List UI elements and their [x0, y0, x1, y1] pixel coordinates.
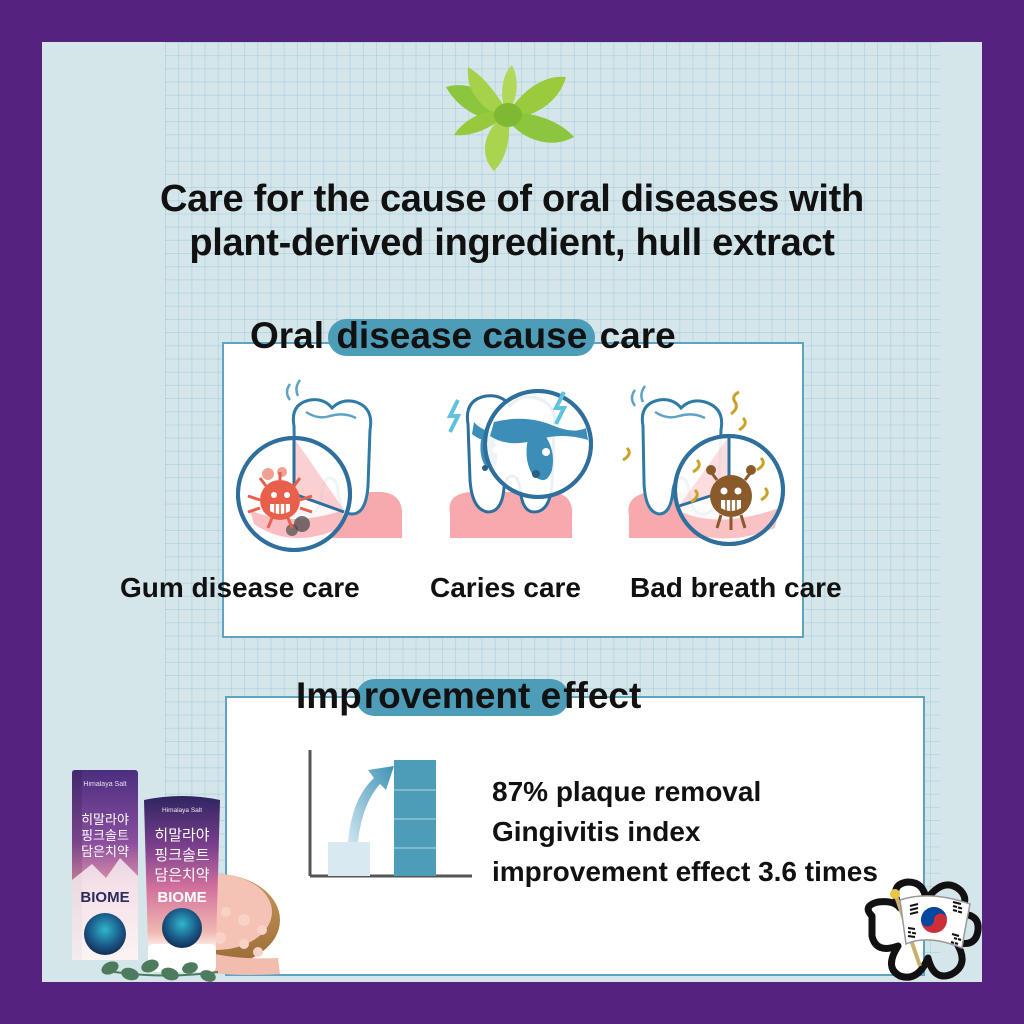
tooth-caries-icon	[422, 378, 612, 558]
section1-title-highlight: disease cause	[334, 315, 589, 357]
south-korea-taegukgi	[900, 896, 970, 948]
infographic-page: Care for the cause of oral diseases with…	[0, 0, 1024, 1024]
section-title-oral-disease: Oral disease cause care	[250, 315, 676, 357]
headline-line-1: Care for the cause of oral diseases with	[160, 178, 864, 220]
caption-bad-breath-care: Bad breath care	[630, 572, 842, 604]
chart-bar-after	[394, 760, 436, 876]
svg-text:담은치약: 담은치약	[81, 844, 129, 859]
svg-text:핑크솔트: 핑크솔트	[81, 828, 129, 843]
svg-text:담은치약: 담은치약	[154, 867, 209, 884]
svg-text:히말라야: 히말라야	[154, 827, 209, 844]
product-photo: Himalaya Salt 히말라야 핑크솔트 담은치약 BIOME Himal…	[48, 752, 288, 984]
section-title-improvement-effect: Improvement effect	[296, 675, 641, 717]
chart-bar-before	[328, 842, 370, 876]
tooth-gum-disease-icon	[232, 378, 422, 558]
caption-caries-care: Caries care	[430, 572, 581, 604]
oral-disease-icon-row	[232, 378, 797, 558]
svg-text:핑크솔트: 핑크솔트	[154, 847, 209, 864]
tooth-bad-breath-icon	[607, 378, 797, 558]
svg-text:BIOME: BIOME	[80, 889, 129, 906]
section1-title-pre: Oral	[250, 315, 334, 356]
benefit-line-1: 87% plaque removal	[492, 772, 1012, 812]
svg-text:BIOME: BIOME	[157, 889, 206, 906]
svg-text:Himalaya Salt: Himalaya Salt	[83, 781, 126, 788]
page-headline: Care for the cause of oral diseases with…	[62, 178, 962, 265]
section2-title-highlight: rovement e	[362, 675, 563, 717]
caption-gum-disease-care: Gum disease care	[120, 572, 360, 604]
section2-title-post: ffect	[563, 675, 641, 716]
growth-arrow-icon	[348, 766, 394, 842]
section1-title-post: care	[589, 315, 675, 356]
headline-line-2: plant-derived ingredient, hull extract	[62, 222, 962, 266]
mint-leaf-icon	[420, 55, 595, 175]
svg-text:히말라야: 히말라야	[81, 812, 129, 827]
svg-text:Himalaya Salt: Himalaya Salt	[162, 807, 202, 814]
section2-title-pre: Imp	[296, 675, 362, 716]
improvement-bar-chart	[300, 742, 480, 890]
benefit-line-2: Gingivitis index	[492, 812, 1012, 852]
made-in-korea-flag-badge	[858, 872, 988, 987]
